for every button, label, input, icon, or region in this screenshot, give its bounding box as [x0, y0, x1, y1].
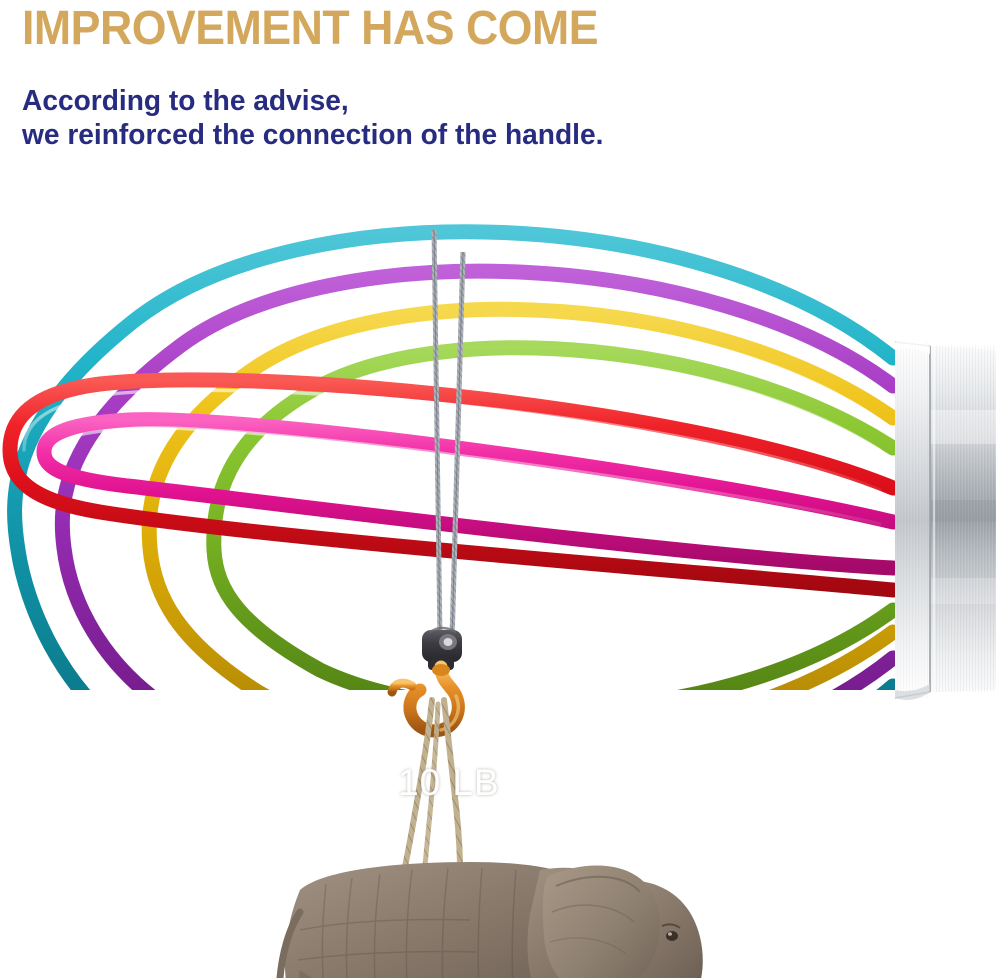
suspended-elephant [280, 862, 765, 978]
product-illustration [0, 170, 996, 978]
subtitle-line-1: According to the advise, [22, 85, 349, 117]
steel-suspension-cable [434, 230, 463, 640]
load-weight-label: 10 LB [398, 762, 500, 804]
product-marketing-image: IMPROVEMENT HAS COME According to the ad… [0, 0, 996, 978]
subtitle-block: According to the advise, we reinforced t… [22, 84, 603, 152]
page-title: IMPROVEMENT HAS COME [22, 2, 598, 56]
stainless-steel-handle [895, 340, 996, 700]
subtitle-line-2: we reinforced the connection of the hand… [22, 118, 603, 152]
